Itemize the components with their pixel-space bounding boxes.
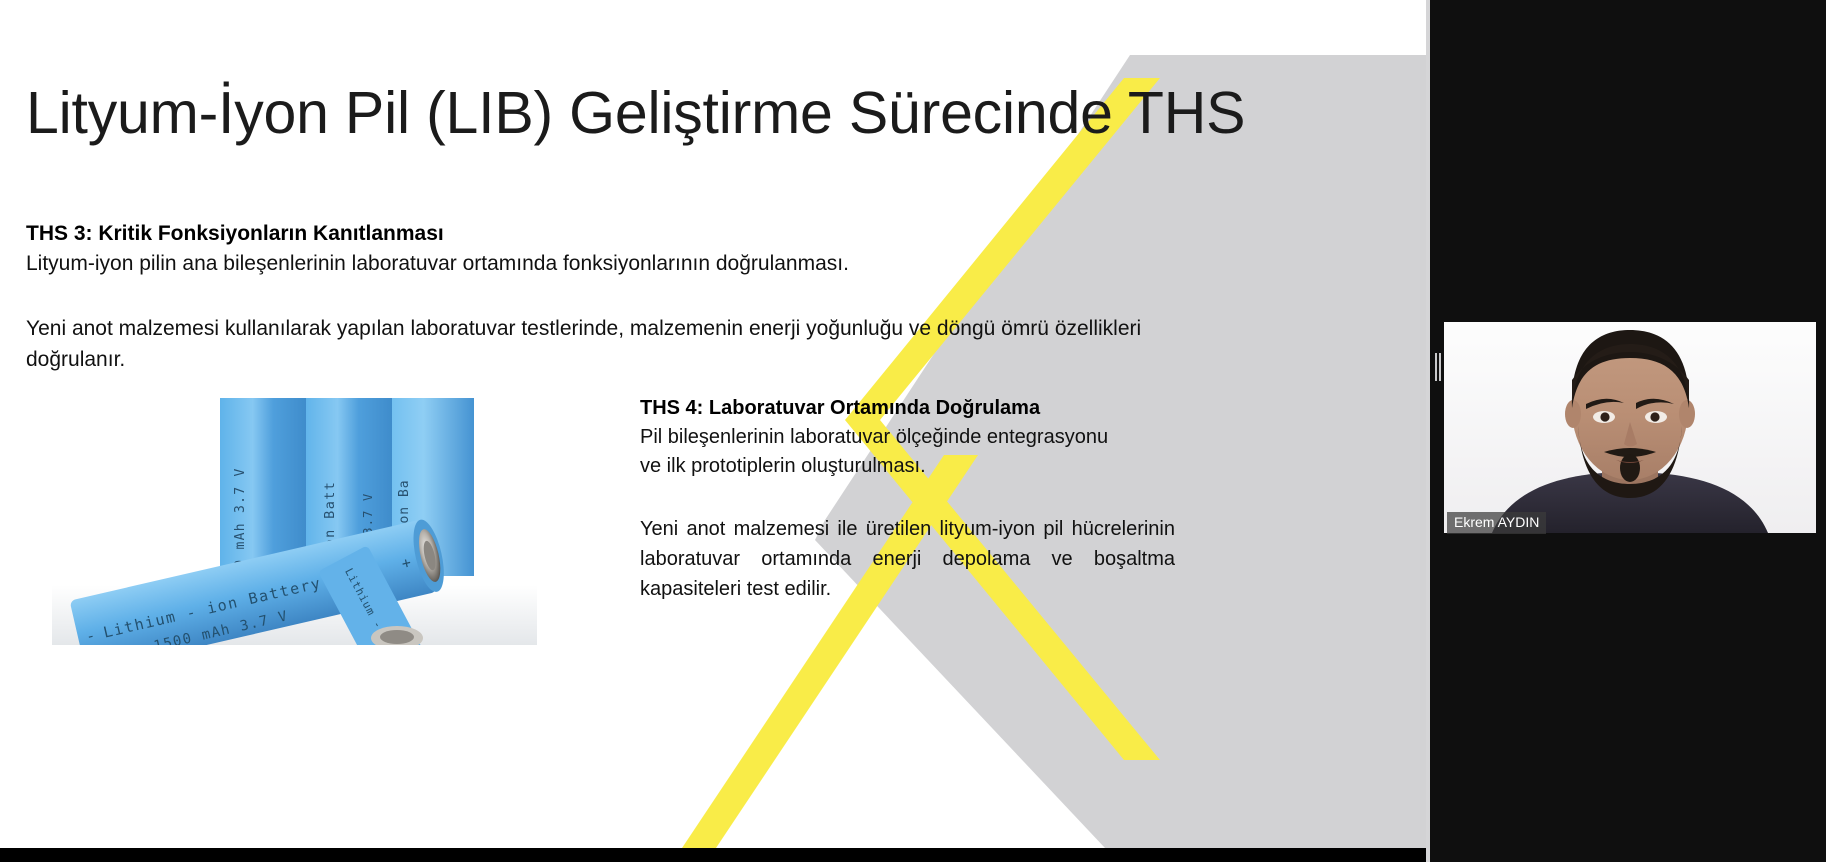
ths3-subline: Lityum-iyon pilin ana bileşenlerinin lab… <box>26 249 1206 279</box>
handle-bar <box>1435 353 1437 381</box>
ths4-text-block: THS 4: Laboratuvar Ortamında Doğrulama P… <box>640 394 1175 605</box>
ths4-subline-2: ve ilk prototiplerin oluşturulması. <box>640 452 1175 481</box>
ths4-paragraph: Yeni anot malzemesi ile üretilen lityum-… <box>640 514 1175 605</box>
ths4-heading: THS 4: Laboratuvar Ortamında Doğrulama <box>640 394 1175 423</box>
meeting-screen: Lityum-İyon Pil (LIB) Geliştirme Sürecin… <box>0 0 1826 862</box>
ths3-text-block: THS 3: Kritik Fonksiyonların Kanıtlanmas… <box>26 219 1206 376</box>
ths3-heading: THS 3: Kritik Fonksiyonların Kanıtlanmas… <box>26 219 1206 249</box>
participant-name-label: Ekrem AYDIN <box>1447 512 1546 534</box>
presentation-slide: Lityum-İyon Pil (LIB) Geliştirme Sürecin… <box>0 0 1430 848</box>
panel-resize-handle[interactable] <box>1434 353 1442 381</box>
lithium-ion-battery-illustration-icon: - ion Ba - ion Batt Ah 3.7 V 500 mAh 3.7… <box>52 380 537 645</box>
rail-divider <box>1426 0 1430 862</box>
ths4-subline-1: Pil bileşenlerinin laboratuvar ölçeğinde… <box>640 423 1175 452</box>
ths3-paragraph: Yeni anot malzemesi kullanılarak yapılan… <box>26 313 1174 376</box>
paragraph-spacer <box>640 482 1175 514</box>
paragraph-spacer <box>26 279 1206 313</box>
battery-image: - ion Ba - ion Batt Ah 3.7 V 500 mAh 3.7… <box>52 380 537 645</box>
handle-bar <box>1439 353 1441 381</box>
shared-screen-area[interactable]: Lityum-İyon Pil (LIB) Geliştirme Sürecin… <box>0 0 1430 862</box>
page-title: Lityum-İyon Pil (LIB) Geliştirme Sürecin… <box>26 82 1316 146</box>
participant-webcam-icon <box>1444 322 1816 533</box>
participant-video-tile[interactable] <box>1444 322 1816 533</box>
